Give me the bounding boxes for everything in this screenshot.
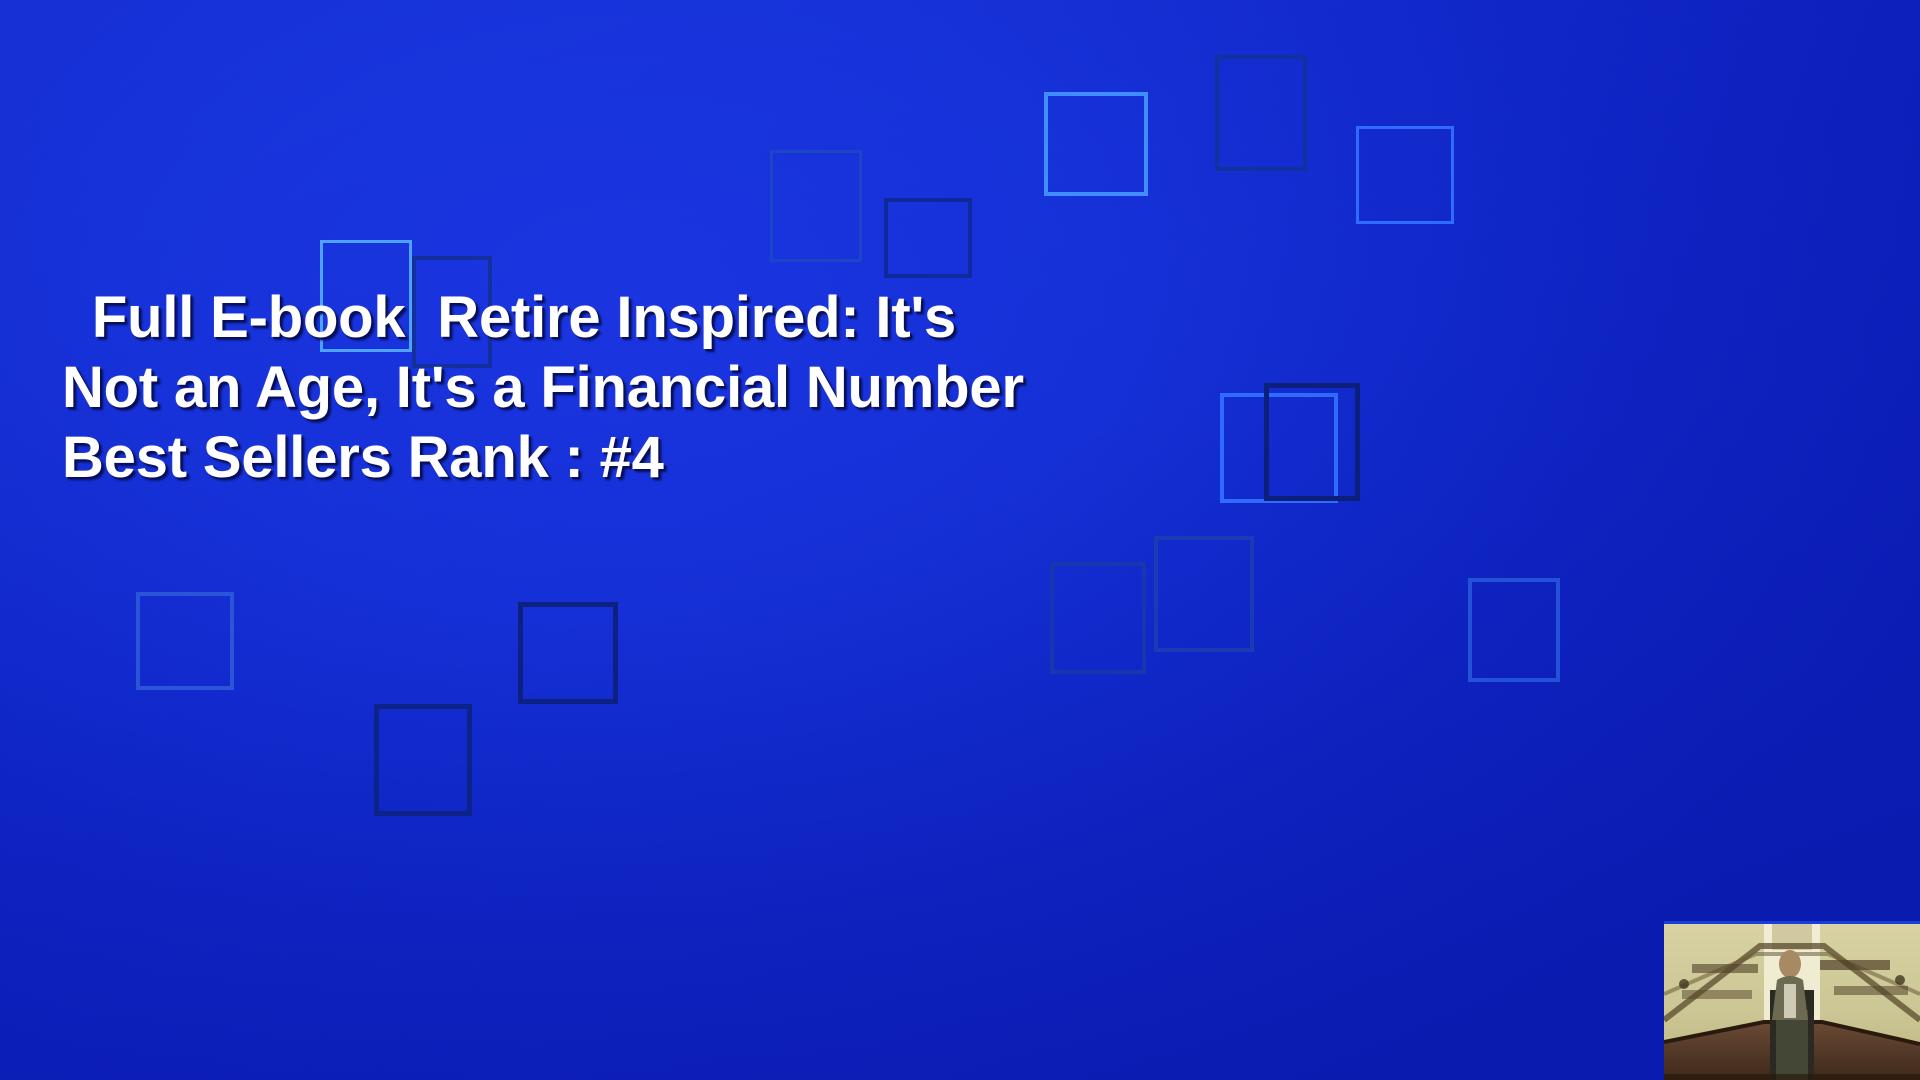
video-thumbnail-slide: Full E-book Retire Inspired: It's Not an…	[0, 0, 1920, 1080]
book-cover-thumbnail	[1664, 921, 1920, 1080]
decorative-square	[374, 704, 472, 816]
headline-line-2: Not an Age, It's a Financial Number	[62, 353, 1182, 423]
thumbnail-artwork	[1664, 924, 1920, 1080]
decorative-square	[1044, 92, 1148, 196]
decorative-square	[1154, 536, 1254, 652]
decorative-square	[518, 602, 618, 704]
decorative-square-pattern	[0, 0, 1920, 1080]
decorative-square	[1050, 562, 1146, 674]
headline-line-1: Full E-book Retire Inspired: It's	[62, 283, 1182, 353]
decorative-square	[884, 198, 972, 278]
headline-line-3: Best Sellers Rank : #4	[62, 423, 1182, 493]
decorative-square	[1356, 126, 1454, 224]
decorative-square	[1468, 578, 1560, 682]
decorative-square	[1215, 55, 1307, 171]
decorative-square	[1264, 383, 1360, 501]
headline-text-block: Full E-book Retire Inspired: It's Not an…	[62, 283, 1182, 493]
decorative-square	[136, 592, 234, 690]
decorative-square	[770, 150, 862, 262]
